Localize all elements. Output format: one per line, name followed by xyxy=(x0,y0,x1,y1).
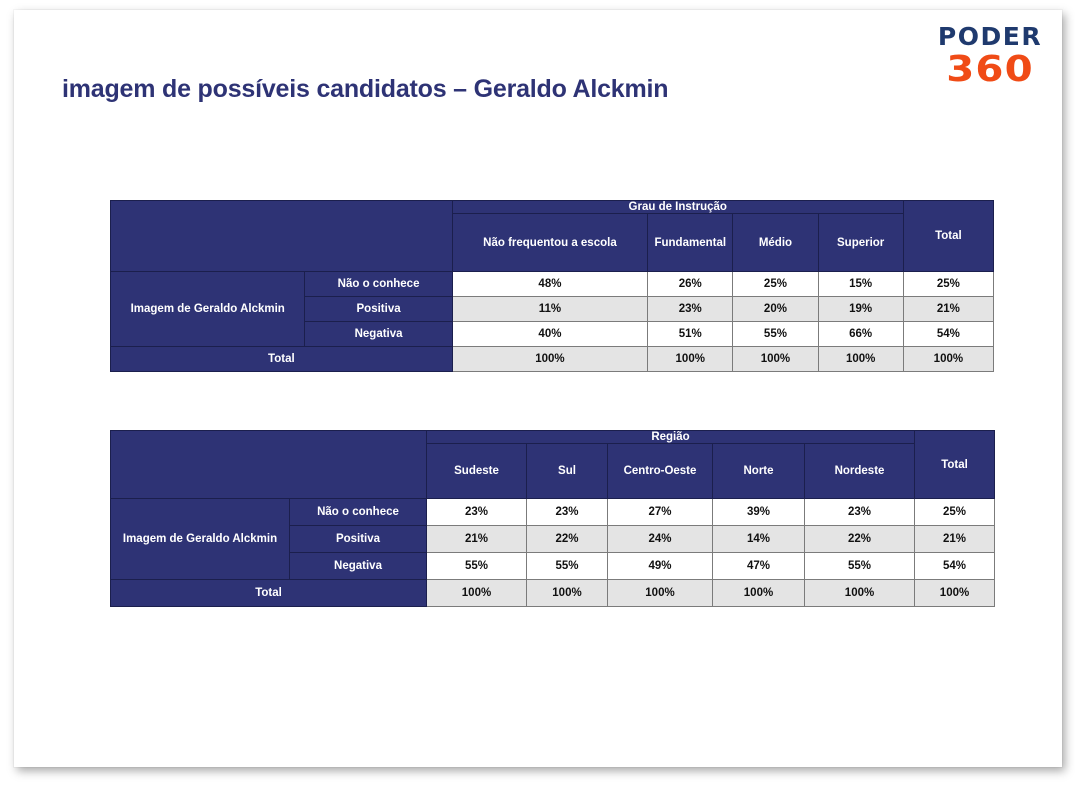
column-header-0: Sudeste xyxy=(427,444,527,499)
cell: 100% xyxy=(733,347,818,372)
cell-total: 54% xyxy=(903,322,993,347)
row-label-negativa: Negativa xyxy=(305,322,452,347)
page-title: imagem de possíveis candidatos – Geraldo… xyxy=(62,75,668,104)
cell: 23% xyxy=(648,297,733,322)
cell: 100% xyxy=(527,580,608,607)
cell: 55% xyxy=(733,322,818,347)
cell-total: 21% xyxy=(915,526,995,553)
column-group-header: Região xyxy=(427,431,915,444)
column-header-4: Nordeste xyxy=(805,444,915,499)
poder360-logo: PODER 360 xyxy=(936,24,1044,87)
column-header-3: Norte xyxy=(713,444,805,499)
column-header-2: Centro-Oeste xyxy=(608,444,713,499)
cell: 25% xyxy=(733,272,818,297)
logo-360-text: 360 xyxy=(930,53,1051,87)
cell: 11% xyxy=(452,297,647,322)
corner-cell xyxy=(111,431,427,499)
cell: 47% xyxy=(713,553,805,580)
table-row: Imagem de Geraldo Alckmin Não o conhece … xyxy=(111,272,994,297)
row-group-label: Imagem de Geraldo Alckmin xyxy=(111,272,305,347)
cell: 100% xyxy=(427,580,527,607)
cell: 23% xyxy=(805,499,915,526)
cell-total: 100% xyxy=(915,580,995,607)
cell-total: 21% xyxy=(903,297,993,322)
cell: 49% xyxy=(608,553,713,580)
cell: 20% xyxy=(733,297,818,322)
row-label-nao-o-conhece: Não o conhece xyxy=(305,272,452,297)
cell: 100% xyxy=(648,347,733,372)
table-grau-de-instrucao: Grau de Instrução Total Não frequentou a… xyxy=(110,200,994,372)
row-label-positiva: Positiva xyxy=(305,297,452,322)
cell-total: 25% xyxy=(903,272,993,297)
cell: 21% xyxy=(427,526,527,553)
cell: 15% xyxy=(818,272,903,297)
column-header-1: Fundamental xyxy=(648,214,733,272)
total-column-header: Total xyxy=(903,201,993,272)
total-column-header: Total xyxy=(915,431,995,499)
column-group-header: Grau de Instrução xyxy=(452,201,903,214)
row-group-label: Imagem de Geraldo Alckmin xyxy=(111,499,290,580)
cell: 26% xyxy=(648,272,733,297)
cell: 22% xyxy=(805,526,915,553)
total-row-label: Total xyxy=(111,347,453,372)
column-header-3: Superior xyxy=(818,214,903,272)
cell: 100% xyxy=(805,580,915,607)
table-total-row: Total 100% 100% 100% 100% 100% 100% xyxy=(111,580,995,607)
cell: 100% xyxy=(713,580,805,607)
total-row-label: Total xyxy=(111,580,427,607)
cell: 55% xyxy=(427,553,527,580)
cell: 27% xyxy=(608,499,713,526)
slide: PODER 360 imagem de possíveis candidatos… xyxy=(14,10,1062,767)
cell: 24% xyxy=(608,526,713,553)
cell: 66% xyxy=(818,322,903,347)
cell-total: 54% xyxy=(915,553,995,580)
cell: 22% xyxy=(527,526,608,553)
cell: 39% xyxy=(713,499,805,526)
table-header-row-group: Região Total xyxy=(111,431,995,444)
cell: 55% xyxy=(527,553,608,580)
slide-canvas: PODER 360 imagem de possíveis candidatos… xyxy=(0,0,1075,800)
column-header-2: Médio xyxy=(733,214,818,272)
column-header-0: Não frequentou a escola xyxy=(452,214,647,272)
cell: 14% xyxy=(713,526,805,553)
table-total-row: Total 100% 100% 100% 100% 100% xyxy=(111,347,994,372)
cell: 100% xyxy=(452,347,647,372)
cell: 100% xyxy=(608,580,713,607)
cell: 100% xyxy=(818,347,903,372)
table-regiao: Região Total Sudeste Sul Centro-Oeste No… xyxy=(110,430,995,607)
table-header-row-group: Grau de Instrução Total xyxy=(111,201,994,214)
table-row: Imagem de Geraldo Alckmin Não o conhece … xyxy=(111,499,995,526)
logo-poder-text: PODER xyxy=(936,24,1044,49)
cell: 23% xyxy=(527,499,608,526)
cell: 23% xyxy=(427,499,527,526)
cell: 19% xyxy=(818,297,903,322)
cell: 40% xyxy=(452,322,647,347)
cell: 51% xyxy=(648,322,733,347)
cell: 48% xyxy=(452,272,647,297)
row-label-positiva: Positiva xyxy=(290,526,427,553)
row-label-negativa: Negativa xyxy=(290,553,427,580)
cell-total: 100% xyxy=(903,347,993,372)
row-label-nao-o-conhece: Não o conhece xyxy=(290,499,427,526)
cell: 55% xyxy=(805,553,915,580)
column-header-1: Sul xyxy=(527,444,608,499)
cell-total: 25% xyxy=(915,499,995,526)
corner-cell xyxy=(111,201,453,272)
